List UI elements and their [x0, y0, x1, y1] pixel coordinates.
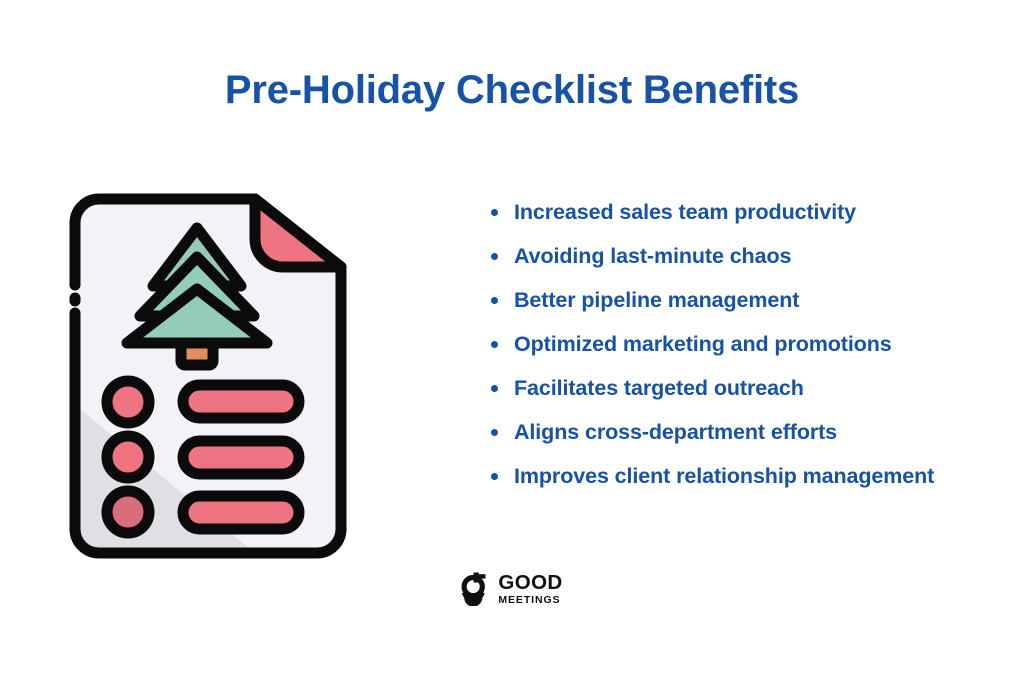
checklist-row: [107, 436, 299, 478]
logo-wordmark: GOOD MEETINGS: [498, 573, 562, 606]
list-item: Avoiding last-minute chaos: [486, 240, 1006, 274]
checklist-bar: [183, 385, 299, 418]
good-meetings-g-icon: [461, 572, 491, 606]
list-item: Better pipeline management: [486, 284, 1006, 318]
list-item: Facilitates targeted outreach: [486, 372, 1006, 406]
checklist-bar: [183, 496, 299, 529]
folded-corner: [255, 199, 341, 267]
logo-line-meetings: MEETINGS: [498, 595, 562, 606]
page-title: Pre-Holiday Checklist Benefits: [0, 66, 1024, 114]
benefits-list: Increased sales team productivity Avoidi…: [486, 196, 1006, 504]
checklist-row: [107, 491, 299, 533]
brand-logo: GOOD MEETINGS: [0, 572, 1024, 606]
list-item: Improves client relationship management: [486, 460, 1006, 494]
logo-line-good: GOOD: [498, 573, 562, 594]
list-item: Increased sales team productivity: [486, 196, 1006, 230]
checklist-bullet: [107, 491, 149, 533]
checklist-row: [107, 381, 299, 423]
list-item: Optimized marketing and promotions: [486, 328, 1006, 362]
document-illustration-svg: [55, 185, 365, 565]
checklist-bullet: [107, 381, 149, 423]
list-item: Aligns cross-department efforts: [486, 416, 1006, 450]
slide-canvas: Pre-Holiday Checklist Benefits: [0, 0, 1024, 682]
checklist-bullet: [107, 436, 149, 478]
holiday-checklist-illustration: [55, 185, 365, 565]
checklist-bar: [183, 441, 299, 474]
